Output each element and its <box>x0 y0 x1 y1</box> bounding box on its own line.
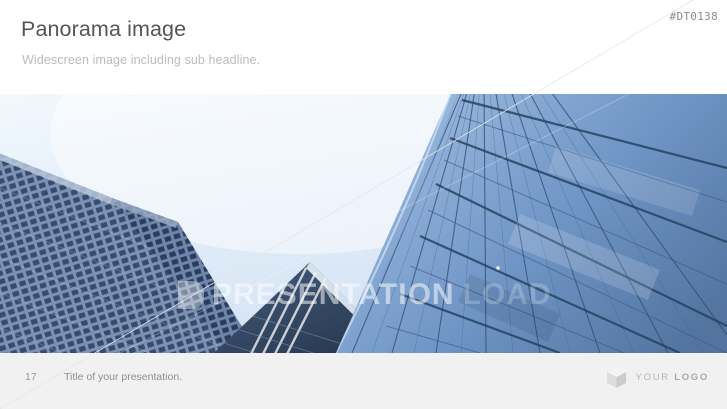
slide-header: #DT0138 Panorama image Widescreen image … <box>0 0 727 94</box>
logo-placeholder[interactable]: YOUR LOGO <box>606 366 709 389</box>
panorama-image: PRESENTATIONLOAD <box>0 94 727 353</box>
logo-text-part-b: LOGO <box>674 372 709 383</box>
slide-footer: 17 Title of your presentation. YOUR LOGO <box>0 353 727 409</box>
cube-icon <box>606 366 627 389</box>
logo-text-part-a: YOUR <box>636 372 675 383</box>
page-title: Panorama image <box>21 17 186 42</box>
panorama-photo-graphic <box>0 94 727 353</box>
footer-title: Title of your presentation. <box>64 371 182 383</box>
slide-code: #DT0138 <box>670 10 718 23</box>
page-subtitle: Widescreen image including sub headline. <box>22 53 260 67</box>
page-number: 17 <box>25 371 37 383</box>
logo-text: YOUR LOGO <box>636 372 709 383</box>
slide: #DT0138 Panorama image Widescreen image … <box>0 0 727 409</box>
